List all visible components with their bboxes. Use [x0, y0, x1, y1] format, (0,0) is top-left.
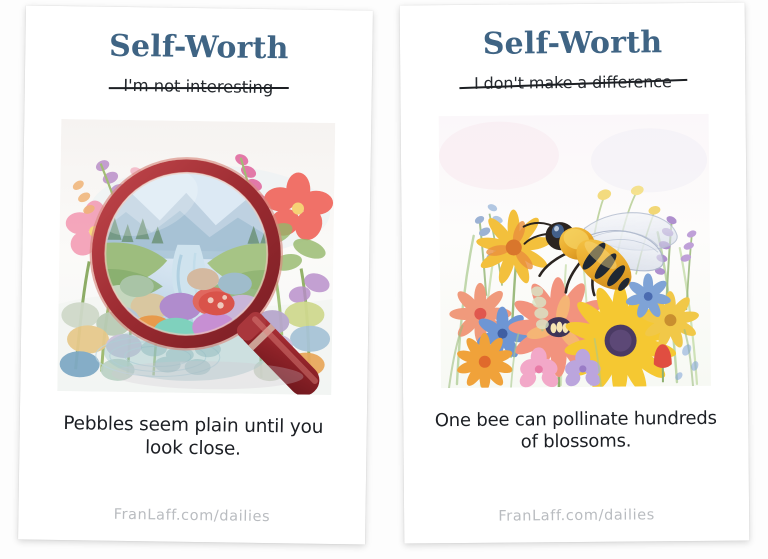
card-title: Self-Worth [109, 32, 289, 65]
affirmation-card-self-worth-pebbles[interactable]: Self-Worth I'm not interesting [18, 5, 373, 544]
card-caption: Pebbles seem plain until you look close. [19, 412, 367, 462]
affirmation-card-self-worth-bee[interactable]: Self-Worth I don't make a difference [400, 3, 750, 544]
card-caption: One bee can pollinate hundreds of blosso… [403, 407, 748, 454]
card-footer-url[interactable]: FranLaff.com/dailies [498, 507, 655, 524]
card-title: Self-Worth [483, 28, 663, 60]
cards-stage: Self-Worth I'm not interesting [0, 0, 768, 559]
card-illustration-honeybee [438, 114, 710, 388]
card-footer-url[interactable]: FranLaff.com/dailies [114, 507, 271, 525]
card-illustration-magnifying-glass [57, 119, 335, 395]
card-subtitle-container: I'm not interesting [113, 76, 283, 99]
card-subtitle-container: I don't make a difference [464, 72, 682, 94]
